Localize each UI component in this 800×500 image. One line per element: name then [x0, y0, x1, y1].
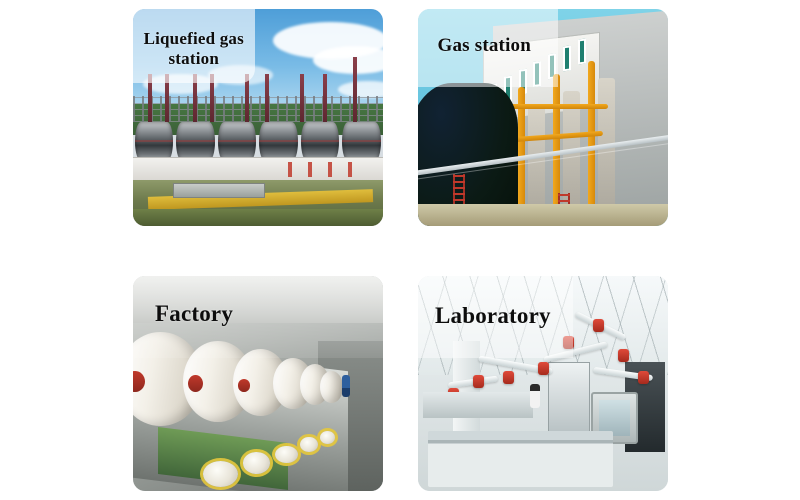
scene-card-liquefied-gas-station[interactable]: Liquefied gas station — [133, 9, 383, 226]
scene-card-laboratory[interactable]: Laboratory — [418, 276, 668, 491]
scene-label-factory: Factory — [155, 300, 233, 327]
scene-label-liquefied-gas-station: Liquefied gas station — [133, 29, 256, 69]
scene-card-gas-station[interactable]: Gas station — [418, 9, 668, 226]
scene-card-factory[interactable]: Factory — [133, 276, 383, 491]
application-scenes-gallery: Liquefied gas station — [0, 0, 800, 500]
scene-label-laboratory: Laboratory — [435, 302, 551, 329]
scene-label-gas-station: Gas station — [438, 35, 532, 57]
